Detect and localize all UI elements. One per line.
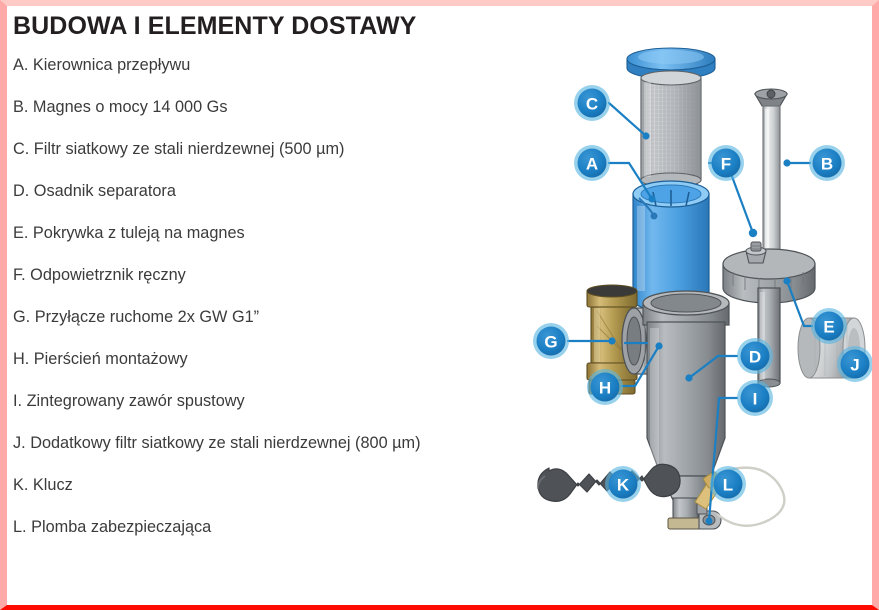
callout-badge-f[interactable]: F <box>708 145 744 181</box>
callout-badge-label: G <box>544 333 557 352</box>
callout-badge-d[interactable]: D <box>737 338 773 374</box>
list-item: J. Dodatkowy filtr siatkowy ze stali nie… <box>13 433 483 455</box>
list-item: A. Kierownica przepływu <box>13 55 483 77</box>
list-item: E. Pokrywka z tuleją na magnes <box>13 223 483 245</box>
callout-badge-e[interactable]: E <box>811 308 847 344</box>
part-magnet-rod-b <box>755 89 787 257</box>
page-title: BUDOWA I ELEMENTY DOSTAWY <box>13 11 518 41</box>
legend-panel: BUDOWA I ELEMENTY DOSTAWY A. Kierownica … <box>13 8 518 559</box>
list-item: G. Przyłącze ruchome 2x GW G1” <box>13 307 483 329</box>
callout-badge-label: B <box>821 155 833 174</box>
callout-badge-c[interactable]: C <box>574 85 610 121</box>
list-item: F. Odpowietrznik ręczny <box>13 265 483 287</box>
callout-badge-label: E <box>823 318 834 337</box>
callout-badge-label: C <box>586 95 598 114</box>
exploded-diagram: C A F B <box>519 6 879 606</box>
legend-list: A. Kierownica przepływu B. Magnes o mocy… <box>13 55 518 539</box>
callout-badge-label: J <box>850 356 859 375</box>
callout-badge-label: K <box>617 476 630 495</box>
callout-badge-label: H <box>599 379 611 398</box>
part-mesh-filter-c <box>627 48 715 187</box>
list-item: L. Plomba zabezpieczająca <box>13 517 483 539</box>
list-item: C. Filtr siatkowy ze stali nierdzewnej (… <box>13 139 483 161</box>
callout-badge-h[interactable]: H <box>587 369 623 405</box>
callout-badge-g[interactable]: G <box>533 323 569 359</box>
callout-badge-a[interactable]: A <box>574 145 610 181</box>
callout-badge-label: A <box>586 155 598 174</box>
callout-badge-label: D <box>749 348 761 367</box>
callout-badge-label: F <box>721 155 731 174</box>
callout-badge-j[interactable]: J <box>837 346 873 382</box>
list-item: H. Pierścień montażowy <box>13 349 483 371</box>
list-item: I. Zintegrowany zawór spustowy <box>13 391 483 413</box>
callout-badge-label: L <box>723 476 733 495</box>
callout-badge-label: I <box>753 390 758 409</box>
page-frame: BUDOWA I ELEMENTY DOSTAWY A. Kierownica … <box>0 0 879 610</box>
callout-badge-l[interactable]: L <box>710 466 746 502</box>
page-inner: BUDOWA I ELEMENTY DOSTAWY A. Kierownica … <box>7 6 872 605</box>
callout-badge-b[interactable]: B <box>809 145 845 181</box>
callout-badge-k[interactable]: K <box>605 466 641 502</box>
list-item: K. Klucz <box>13 475 483 497</box>
list-item: D. Osadnik separatora <box>13 181 483 203</box>
list-item: B. Magnes o mocy 14 000 Gs <box>13 97 483 119</box>
callout-badge-i[interactable]: I <box>737 380 773 416</box>
